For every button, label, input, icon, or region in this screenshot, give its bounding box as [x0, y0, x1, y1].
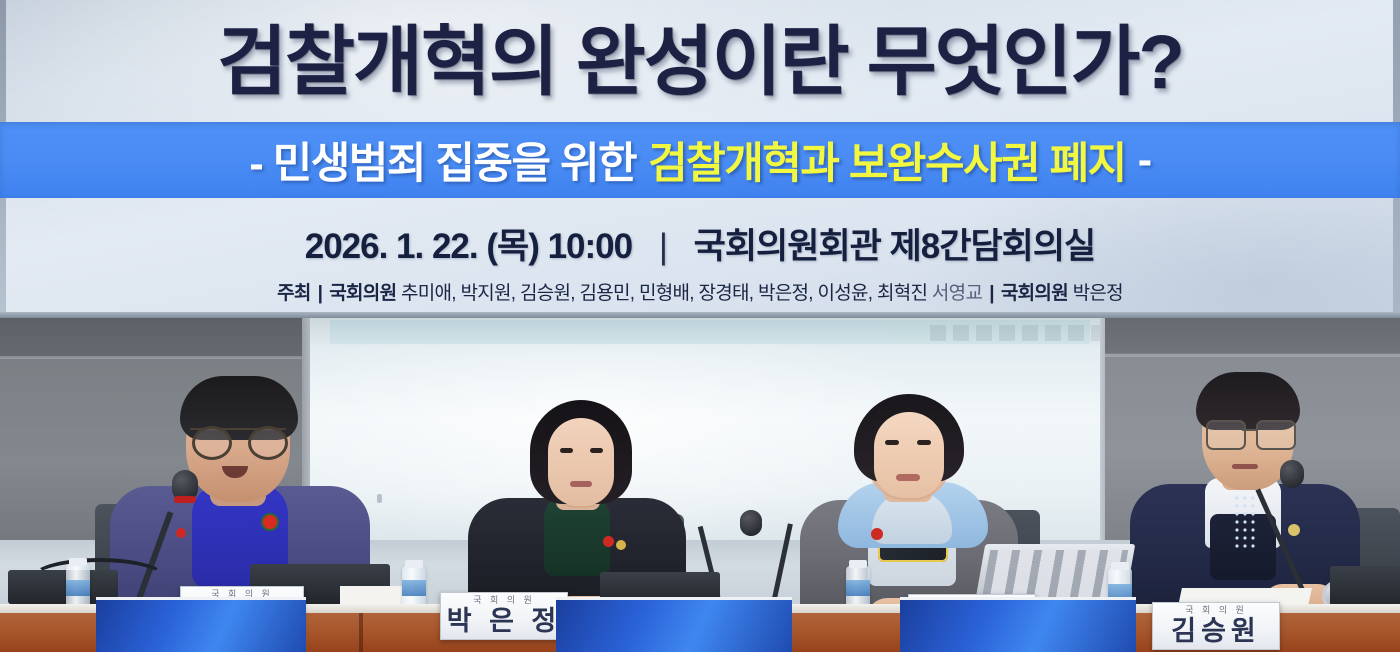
desk-cable-left [30, 558, 168, 600]
projection-screen-band [330, 320, 1090, 344]
nameplate-2: 국 회 의 원 박 은 정 [440, 592, 568, 640]
banner-title: 검찰개혁의 완성이란 무엇인가? [0, 16, 1400, 110]
banner-blue-bar: - 민생범죄 집중을 위한 검찰개혁과 보완수사권 폐지 - [0, 122, 1400, 198]
panelist-3-eye-right [917, 440, 931, 445]
water-bottle-3-label [846, 580, 870, 596]
nameplate-2-title: 국 회 의 원 [473, 595, 535, 606]
microphone-4-head [1280, 460, 1304, 488]
water-bottle-1-cap [69, 558, 87, 566]
panelist-1-glasses-right-lens [248, 426, 288, 460]
nameplate-4: 국 회 의 원 김승원 [1152, 602, 1280, 650]
event-date: 2026. 1. 22. (목) 10:00 [305, 227, 632, 266]
banner-host-line: 주최|국회의원 추미애, 박지원, 김승원, 김용민, 민형배, 장경태, 박은… [0, 278, 1400, 305]
desk-paper-left [340, 586, 410, 604]
screen-marker [377, 494, 382, 503]
panelist-1-lapel-pin-red [263, 515, 277, 529]
screenshot-root: 검찰개혁의 완성이란 무엇인가? - 민생범죄 집중을 위한 검찰개혁과 보완수… [0, 0, 1400, 652]
banner-date-venue: 2026. 1. 22. (목) 10:00 | 국회의원회관 제8간담회의실 [0, 218, 1400, 269]
host-divider-2: | [982, 283, 1001, 305]
panelist-2-eye-right [590, 448, 603, 453]
panelist-3-lapel-pin-red [871, 528, 883, 540]
panelist-3-eye-left [885, 440, 899, 445]
panelist-2-lapel-pin-gold [616, 540, 626, 550]
panelist-4-glasses-bridge [1242, 429, 1256, 431]
nameplate-4-title: 국 회 의 원 [1185, 605, 1247, 616]
host-divider-1: | [311, 283, 330, 305]
panelist-2-lapel-pin-red [603, 536, 614, 547]
subtitle-tail: - [1138, 136, 1151, 185]
panelist-1-glasses-left-lens [192, 426, 232, 460]
panelist-4-glasses-left-lens [1206, 420, 1246, 450]
date-venue-separator: | [641, 227, 685, 267]
desk-banner-panel-3 [900, 597, 1136, 652]
microphone-1-red-ring [174, 496, 196, 503]
conference-room-photo: 국 회 의 원 박지원 국 회 의 원 박 은 정 국 회 의 원 서영교 국 … [0, 318, 1400, 652]
host-dim-name: 서영교 [932, 283, 982, 304]
panelist-2-mouth [570, 481, 592, 487]
water-bottle-4-cap [1111, 562, 1129, 570]
subtitle-highlight: 검찰개혁과 보완수사권 폐지 [648, 129, 1126, 191]
desk-monitor-mid-slats [982, 550, 1128, 598]
desk-seam-1 [359, 613, 363, 652]
panelist-4-lapel-badge [1288, 524, 1300, 536]
panelist-3-mouth [896, 474, 920, 481]
host-right-name: 박은정 [1073, 283, 1123, 304]
event-venue: 국회의원회관 제8간담회의실 [694, 227, 1096, 266]
host-right-title: 국회의원 [1001, 283, 1068, 304]
panelist-1-lapel-pin-small [176, 528, 186, 538]
water-bottle-3-cap [849, 560, 867, 568]
panelist-2-face-opening [548, 418, 614, 506]
nameplate-4-name: 김승원 [1171, 616, 1261, 647]
event-banner: 검찰개혁의 완성이란 무엇인가? - 민생범죄 집중을 위한 검찰개혁과 보완수… [0, 0, 1400, 318]
water-bottle-1-label [66, 580, 90, 596]
nameplate-2-name: 박 은 정 [447, 606, 562, 637]
desk-device-right [1330, 566, 1400, 606]
desk-banner-panel-2 [556, 597, 792, 652]
host-label: 주최 [277, 283, 311, 304]
desk-banner-panel-1 [96, 597, 306, 652]
microphone-3-head [740, 510, 762, 536]
panelist-4-tie [1233, 494, 1255, 552]
panelist-3-face-opening [874, 412, 944, 498]
water-bottle-2-label [402, 580, 426, 596]
host-title: 국회의원 [329, 283, 396, 304]
water-bottle-2-cap [405, 560, 423, 568]
subtitle-lead: - 민생범죄 집중을 위한 [249, 129, 636, 191]
host-names: 추미애, 박지원, 김승원, 김용민, 민형배, 장경태, 박은정, 이성윤, … [401, 283, 927, 304]
panelist-4-mouth [1232, 464, 1258, 469]
banner-subtitle: - 민생범죄 집중을 위한 검찰개혁과 보완수사권 폐지 - [0, 122, 1400, 198]
panelist-4-glasses-right-lens [1256, 420, 1296, 450]
panelist-2-eye-left [560, 448, 573, 453]
